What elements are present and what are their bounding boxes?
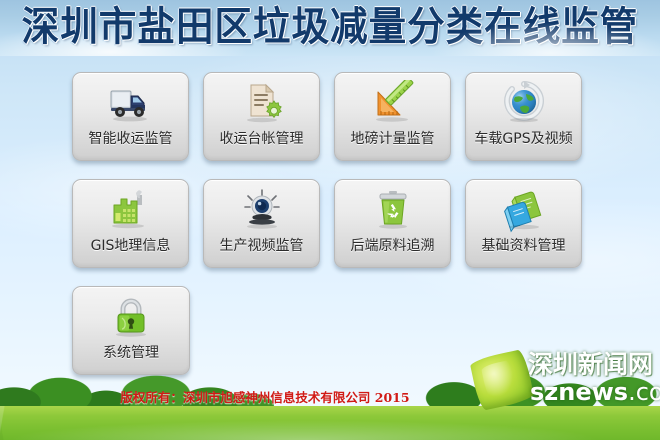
grass-field-decoration bbox=[0, 406, 660, 440]
recycle-bin-icon bbox=[370, 187, 416, 233]
menu-row-2: GIS地理信息 bbox=[72, 179, 582, 268]
leaf-icon bbox=[469, 349, 535, 412]
tile-weighbridge-metering[interactable]: 地磅计量监管 bbox=[334, 72, 451, 161]
padlock-icon bbox=[108, 294, 154, 340]
globe-refresh-icon bbox=[501, 80, 547, 126]
webcam-icon bbox=[239, 187, 285, 233]
tile-vehicle-gps-video[interactable]: 车载GPS及视频 bbox=[465, 72, 582, 161]
tile-label: 基础资料管理 bbox=[482, 237, 566, 255]
tile-backend-material-trace[interactable]: 后端原料追溯 bbox=[334, 179, 451, 268]
watermark-en-light: .com bbox=[628, 378, 660, 406]
tile-label: 收运台帐管理 bbox=[220, 130, 304, 148]
watermark-cn-text: 深圳新闻网 bbox=[528, 350, 653, 380]
watermark-en-text: sznews.com bbox=[530, 379, 660, 406]
tile-label: GIS地理信息 bbox=[91, 237, 171, 255]
menu-grid: 智能收运监管 bbox=[72, 72, 582, 393]
tile-collection-ledger[interactable]: 收运台帐管理 bbox=[203, 72, 320, 161]
tile-basic-data-management[interactable]: 基础资料管理 bbox=[465, 179, 582, 268]
tile-label: 后端原料追溯 bbox=[351, 237, 435, 255]
sznews-watermark: 深圳新闻网 sznews.com bbox=[474, 348, 656, 410]
title-banner: 深圳市盐田区垃圾减量分类在线监管 bbox=[0, 0, 660, 56]
tile-label: 系统管理 bbox=[103, 344, 159, 362]
ruler-triangle-icon bbox=[370, 80, 416, 126]
tile-intelligent-collection[interactable]: 智能收运监管 bbox=[72, 72, 189, 161]
menu-row-1: 智能收运监管 bbox=[72, 72, 582, 161]
tile-label: 地磅计量监管 bbox=[351, 130, 435, 148]
document-gear-icon bbox=[239, 80, 285, 126]
factory-icon bbox=[108, 187, 154, 233]
tile-production-video[interactable]: 生产视频监管 bbox=[203, 179, 320, 268]
tile-label: 生产视频监管 bbox=[220, 237, 304, 255]
application-root: 深圳市盐田区垃圾减量分类在线监管 bbox=[0, 0, 660, 440]
tile-label: 车载GPS及视频 bbox=[474, 130, 572, 148]
tile-gis-geographic-info[interactable]: GIS地理信息 bbox=[72, 179, 189, 268]
truck-icon bbox=[108, 80, 154, 126]
page-title: 深圳市盐田区垃圾减量分类在线监管 bbox=[20, 1, 640, 53]
tile-label: 智能收运监管 bbox=[89, 130, 173, 148]
books-icon bbox=[501, 187, 547, 233]
watermark-en-bold: sznews bbox=[530, 378, 628, 406]
